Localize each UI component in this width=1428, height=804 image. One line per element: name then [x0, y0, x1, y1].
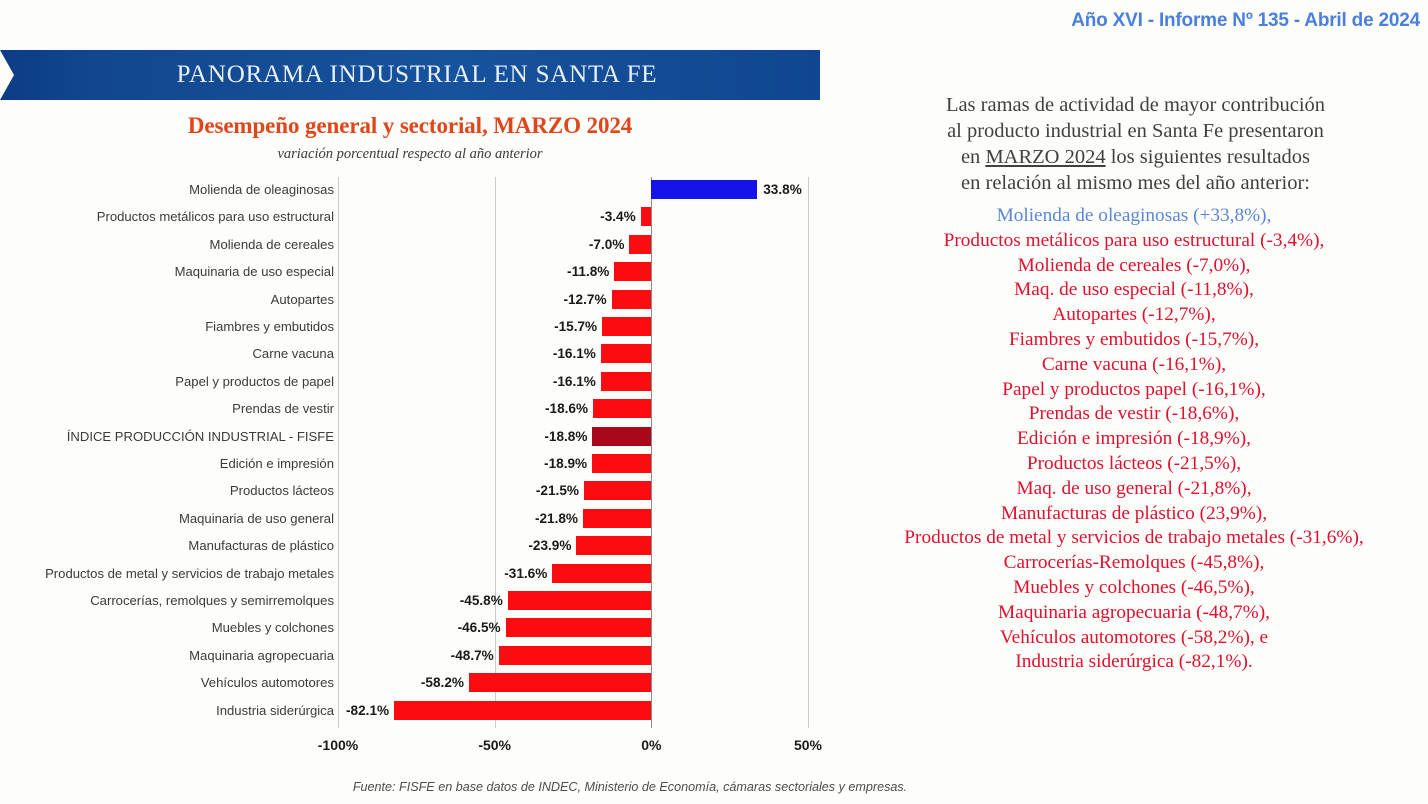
category-label: Molienda de cereales	[210, 231, 334, 258]
category-label: Carrocerías, remolques y semirremolques	[90, 587, 334, 614]
bar-value-label: -48.7%	[451, 642, 494, 669]
intro-line-4: en relación al mismo mes del año anterio…	[961, 172, 1310, 194]
bar	[601, 344, 651, 363]
sector-result-line: Prendas de vestir (-18,6%),	[846, 402, 1422, 427]
bar-value-label: -18.8%	[544, 423, 587, 450]
sector-result-line: Manufacturas de plástico (23,9%),	[846, 502, 1422, 527]
intro-line-3-post: los siguientes resultados	[1106, 146, 1310, 168]
category-label: Autopartes	[271, 286, 334, 313]
bar-row: Industria siderúrgica-82.1%	[0, 697, 840, 724]
x-tick--50pct: -50%	[478, 737, 511, 753]
category-label: Productos metálicos para uso estructural	[97, 203, 334, 230]
category-label: Edición e impresión	[220, 450, 334, 477]
sector-result-line: Autopartes (-12,7%),	[846, 303, 1422, 328]
bar-row: ÍNDICE PRODUCCIÓN INDUSTRIAL - FISFE-18.…	[0, 423, 840, 450]
bar-value-label: -58.2%	[421, 669, 464, 696]
category-label: Molienda de oleaginosas	[189, 176, 334, 203]
bar	[576, 536, 651, 555]
category-label: Vehículos automotores	[201, 669, 334, 696]
chart-panel: PANORAMA INDUSTRIAL EN SANTA FE Desempeñ…	[0, 0, 840, 804]
sector-result-line: Productos metálicos para uso estructural…	[846, 229, 1422, 254]
sector-result-line: Carrocerías-Remolques (-45,8%),	[846, 551, 1422, 576]
bar-row: Maquinaria de uso especial-11.8%	[0, 258, 840, 285]
x-axis-tick-labels: -100%-50%0%50%	[0, 737, 840, 759]
bar	[394, 701, 651, 720]
bar	[469, 673, 651, 692]
category-label: Maquinaria de uso especial	[175, 258, 334, 285]
bar	[641, 207, 652, 226]
x-tick-0pct: 0%	[641, 737, 661, 753]
bar-row: Molienda de cereales-7.0%	[0, 231, 840, 258]
bar-value-label: -11.8%	[567, 258, 609, 285]
bar-value-label: -12.7%	[563, 286, 606, 313]
category-label: Prendas de vestir	[232, 395, 334, 422]
bar-row: Maquinaria agropecuaria-48.7%	[0, 642, 840, 669]
bar	[499, 646, 652, 665]
bar-row: Prendas de vestir-18.6%	[0, 395, 840, 422]
sector-result-line: Fiambres y embutidos (-15,7%),	[846, 328, 1422, 353]
category-label: Maquinaria de uso general	[179, 505, 334, 532]
sector-result-line: Maq. de uso especial (-11,8%),	[846, 278, 1422, 303]
bar-value-label: -16.1%	[553, 368, 596, 395]
bar-row: Manufacturas de plástico-23.9%	[0, 532, 840, 559]
bar-row: Productos de metal y servicios de trabaj…	[0, 560, 840, 587]
bar	[593, 399, 651, 418]
bar-row: Molienda de oleaginosas33.8%	[0, 176, 840, 203]
bar-value-label: -82.1%	[346, 697, 389, 724]
bar-row: Fiambres y embutidos-15.7%	[0, 313, 840, 340]
bar	[612, 290, 652, 309]
bar	[651, 180, 757, 199]
bar	[552, 564, 651, 583]
bar-value-label: -21.5%	[536, 477, 579, 504]
bar	[506, 618, 652, 637]
bar	[602, 317, 651, 336]
category-label: Muebles y colchones	[212, 614, 334, 641]
bar-value-label: -7.0%	[589, 231, 625, 258]
bar-row: Maquinaria de uso general-21.8%	[0, 505, 840, 532]
sector-result-line: Maquinaria agropecuaria (-48,7%),	[846, 601, 1422, 626]
intro-month-underlined: MARZO 2024	[985, 146, 1105, 168]
header-banner: PANORAMA INDUSTRIAL EN SANTA FE	[0, 50, 820, 100]
bar	[614, 262, 651, 281]
bar-row: Papel y productos de papel-16.1%	[0, 368, 840, 395]
intro-paragraph: Las ramas de actividad de mayor contribu…	[858, 92, 1413, 196]
intro-line-1: Las ramas de actividad de mayor contribu…	[946, 94, 1325, 116]
bar	[629, 235, 651, 254]
sector-results-list: Molienda de oleaginosas (+33,8%),Product…	[846, 204, 1422, 675]
bar-row: Carrocerías, remolques y semirremolques-…	[0, 587, 840, 614]
bar-row: Autopartes-12.7%	[0, 286, 840, 313]
bar-value-label: -23.9%	[528, 532, 571, 559]
sector-result-line: Papel y productos papel (-16,1%),	[846, 378, 1422, 403]
intro-line-3-pre: en	[961, 146, 985, 168]
sector-result-line: Edición e impresión (-18,9%),	[846, 427, 1422, 452]
bar-value-label: -15.7%	[554, 313, 597, 340]
bar-value-label: 33.8%	[763, 176, 802, 203]
chart-title: Desempeño general y sectorial, MARZO 202…	[0, 113, 820, 139]
category-label: Industria siderúrgica	[216, 697, 334, 724]
sector-result-line: Molienda de cereales (-7,0%),	[846, 254, 1422, 279]
bar-value-label: -46.5%	[458, 614, 501, 641]
bar	[601, 372, 651, 391]
sector-result-line: Maq. de uso general (-21,8%),	[846, 477, 1422, 502]
sector-result-line: Carne vacuna (-16,1%),	[846, 353, 1422, 378]
bar-value-label: -18.9%	[544, 450, 587, 477]
bar-value-label: -31.6%	[504, 560, 547, 587]
bar-row: Muebles y colchones-46.5%	[0, 614, 840, 641]
bar-value-label: -21.8%	[535, 505, 578, 532]
summary-panel: Las ramas de actividad de mayor contribu…	[840, 0, 1428, 804]
intro-line-2: al producto industrial en Santa Fe prese…	[947, 120, 1324, 142]
category-label: ÍNDICE PRODUCCIÓN INDUSTRIAL - FISFE	[67, 423, 334, 450]
sector-result-line: Productos de metal y servicios de trabaj…	[846, 526, 1422, 551]
category-label: Carne vacuna	[252, 340, 334, 367]
page-title: PANORAMA INDUSTRIAL EN SANTA FE	[163, 61, 658, 89]
chart-subtitle: variación porcentual respecto al año ant…	[0, 146, 820, 163]
category-label: Manufacturas de plástico	[188, 532, 334, 559]
category-label: Productos lácteos	[230, 477, 334, 504]
bar-row: Productos metálicos para uso estructural…	[0, 203, 840, 230]
bar	[592, 454, 651, 473]
bar	[583, 509, 651, 528]
bar-row: Vehículos automotores-58.2%	[0, 669, 840, 696]
bar-value-label: -3.4%	[600, 203, 636, 230]
category-label: Papel y productos de papel	[175, 368, 334, 395]
bar-row: Carne vacuna-16.1%	[0, 340, 840, 367]
category-label: Maquinaria agropecuaria	[189, 642, 334, 669]
bar-value-label: -16.1%	[553, 340, 596, 367]
bar-value-label: -45.8%	[460, 587, 503, 614]
x-tick-50pct: 50%	[794, 737, 822, 753]
sector-result-line: Industria siderúrgica (-82,1%).	[846, 650, 1422, 675]
bar-chart: Molienda de oleaginosas33.8%Productos me…	[0, 175, 840, 730]
sector-result-line: Muebles y colchones (-46,5%),	[846, 576, 1422, 601]
bar	[508, 591, 652, 610]
category-label: Productos de metal y servicios de trabaj…	[45, 560, 334, 587]
bar-value-label: -18.6%	[545, 395, 588, 422]
x-tick--100pct: -100%	[318, 737, 358, 753]
sector-result-line: Vehículos automotores (-58,2%), e	[846, 626, 1422, 651]
sector-result-line: Molienda de oleaginosas (+33,8%),	[846, 204, 1422, 229]
bar-row: Edición e impresión-18.9%	[0, 450, 840, 477]
bar-row: Productos lácteos-21.5%	[0, 477, 840, 504]
bar	[592, 427, 651, 446]
bar	[584, 481, 651, 500]
category-label: Fiambres y embutidos	[205, 313, 334, 340]
sector-result-line: Productos lácteos (-21,5%),	[846, 452, 1422, 477]
